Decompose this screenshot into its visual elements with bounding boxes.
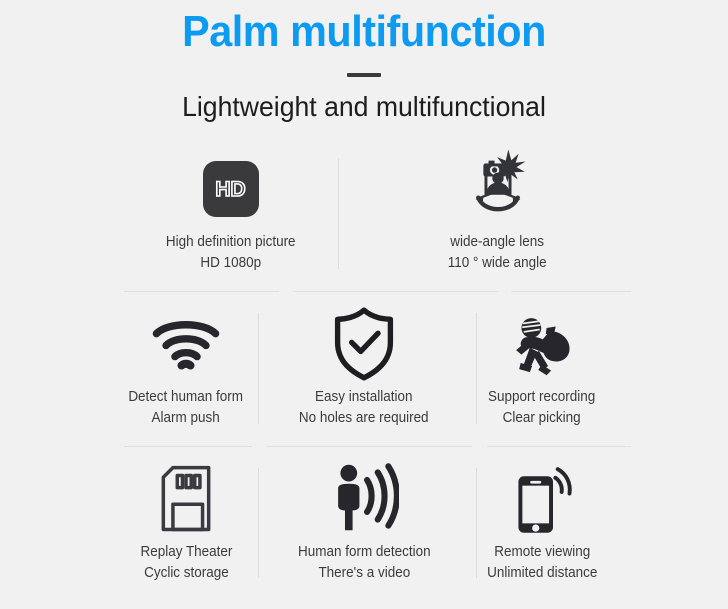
feature-label-secondary: Unlimited distance: [487, 563, 597, 584]
feature-label-primary: Support recording: [488, 387, 595, 408]
feature-label-primary: wide-angle lens: [448, 232, 547, 253]
feature-label-primary: Human form detection: [298, 542, 431, 563]
feature-cell-wide-angle[interactable]: wide-angle lens 110 ° wide angle: [364, 136, 631, 291]
page-subtitle: Lightweight and multifunctional: [18, 91, 710, 123]
feature-label-primary: Detect human form: [129, 387, 244, 408]
feature-label-secondary: There's a video: [298, 563, 431, 584]
feature-label-secondary: Cyclic storage: [140, 563, 232, 584]
human-motion-detect-icon: [329, 456, 399, 542]
feature-row-1: HD High definition picture HD 1080p: [97, 136, 631, 291]
feature-cell-detect-human[interactable]: Detect human form Alarm push: [97, 291, 275, 446]
hd-badge-label: HD: [215, 179, 245, 200]
feature-label-secondary: Alarm push: [129, 408, 244, 429]
feature-row-3: Replay Theater Cyclic storage Human form…: [97, 446, 631, 600]
feature-label-primary: Replay Theater: [140, 542, 232, 563]
smartphone-signal-icon: [509, 456, 575, 542]
shield-check-icon: [331, 301, 397, 387]
feature-label-primary: Easy installation: [299, 387, 429, 408]
feature-cell-human-detection[interactable]: Human form detection There's a video: [275, 446, 453, 600]
feature-labels: High definition picture HD 1080p: [161, 232, 300, 274]
feature-label-secondary: HD 1080p: [166, 253, 296, 274]
page-title: Palm multifunction: [22, 8, 706, 56]
feature-labels: Support recording Clear picking: [484, 387, 599, 429]
feature-row-2: Detect human form Alarm push Easy instal…: [97, 291, 631, 446]
feature-cell-replay-theater[interactable]: Replay Theater Cyclic storage: [97, 446, 275, 600]
feature-labels: Easy installation No holes are required: [294, 387, 433, 429]
feature-label-secondary: 110 ° wide angle: [448, 253, 547, 274]
feature-labels: Detect human form Alarm push: [124, 387, 247, 429]
wide-angle-lens-icon: [455, 146, 541, 232]
feature-labels: Human form detection There's a video: [293, 542, 436, 584]
title-divider-dash: [347, 73, 381, 77]
page-header: Palm multifunction Lightweight and multi…: [0, 0, 728, 124]
feature-label-secondary: No holes are required: [299, 408, 429, 429]
feature-labels: Replay Theater Cyclic storage: [137, 542, 236, 584]
sd-card-icon: [158, 456, 214, 542]
burglar-icon: [507, 301, 577, 387]
hd-badge-icon: HD: [203, 146, 259, 232]
feature-cell-easy-installation[interactable]: Easy installation No holes are required: [275, 291, 453, 446]
feature-cell-support-recording[interactable]: Support recording Clear picking: [453, 291, 631, 446]
wifi-icon: [149, 301, 223, 387]
feature-labels: Remote viewing Unlimited distance: [483, 542, 601, 584]
feature-cell-remote-viewing[interactable]: Remote viewing Unlimited distance: [453, 446, 631, 600]
feature-grid: HD High definition picture HD 1080p: [97, 136, 631, 602]
feature-label-primary: High definition picture: [166, 232, 296, 253]
product-feature-page: Palm multifunction Lightweight and multi…: [0, 0, 728, 609]
feature-label-secondary: Clear picking: [488, 408, 595, 429]
feature-labels: wide-angle lens 110 ° wide angle: [444, 232, 550, 274]
feature-label-primary: Remote viewing: [487, 542, 597, 563]
feature-cell-hd[interactable]: HD High definition picture HD 1080p: [97, 136, 364, 291]
